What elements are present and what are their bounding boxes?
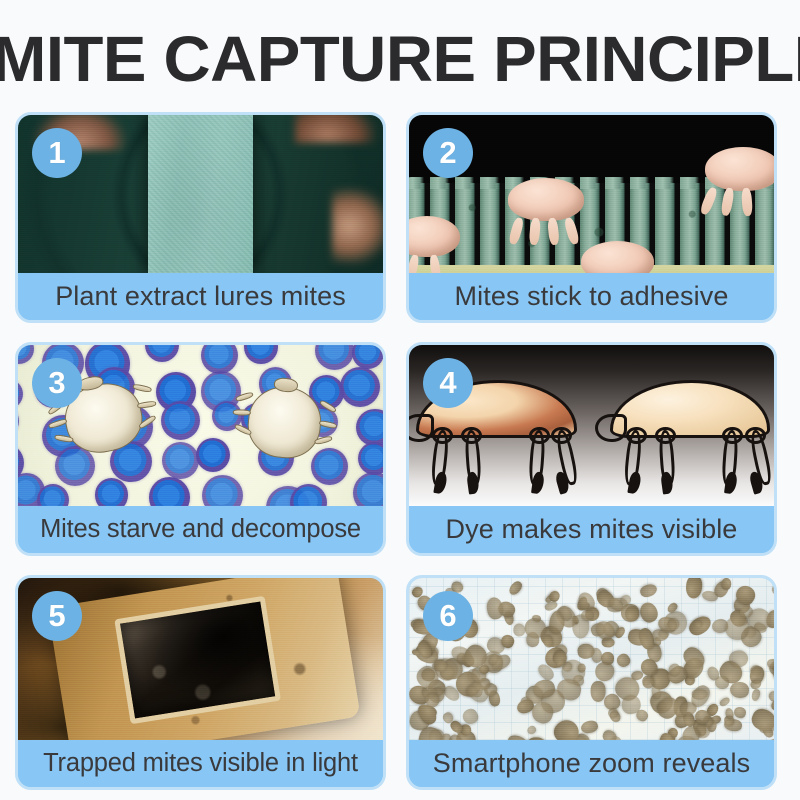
stained-cell xyxy=(161,401,200,440)
mite-speck xyxy=(715,676,729,689)
stained-cell xyxy=(202,475,243,506)
finger-shape xyxy=(332,188,383,264)
mite-pad-shape xyxy=(148,115,254,273)
page-title: MITE CAPTURE PRINCIPLE xyxy=(0,22,800,96)
mite-speck xyxy=(526,724,538,735)
step-badge-1: 1 xyxy=(32,128,82,178)
mite-speck xyxy=(638,583,658,600)
step-card-3[interactable]: 3 Mites starve and decompose xyxy=(15,342,386,556)
step-badge-6: 6 xyxy=(423,591,473,641)
mite-speck xyxy=(602,729,619,740)
stained-cell xyxy=(315,345,354,370)
step-card-6[interactable]: 6 Smartphone zoom reveals xyxy=(406,575,777,790)
undyed-mite-shape xyxy=(610,380,771,480)
steps-grid: 1 Plant extract lures mites xyxy=(15,112,777,772)
stained-cell xyxy=(196,438,230,472)
stained-cell xyxy=(145,345,179,362)
stained-cell xyxy=(311,448,348,485)
mite-speck xyxy=(507,579,524,597)
step-card-4[interactable]: 4 Dye makes mites visible xyxy=(406,342,777,556)
step-badge-3: 3 xyxy=(32,358,82,408)
finger-shape xyxy=(295,115,375,143)
mite-speck xyxy=(729,681,749,699)
stained-cell xyxy=(201,345,238,374)
mite-shape xyxy=(705,147,774,191)
mite-speck xyxy=(701,590,718,602)
stained-cell xyxy=(55,446,95,486)
stained-cell xyxy=(358,442,383,475)
mite-speck xyxy=(718,695,731,707)
step-caption-1: Plant extract lures mites xyxy=(18,273,383,320)
mite-speck xyxy=(512,624,526,638)
inspection-window xyxy=(115,596,282,724)
step-card-1[interactable]: 1 Plant extract lures mites xyxy=(15,112,386,323)
mite-speck xyxy=(766,658,774,669)
trap-patch-shape xyxy=(48,578,361,740)
mite-speck xyxy=(733,706,747,719)
mite-speck xyxy=(749,706,774,734)
stained-cell xyxy=(95,478,129,506)
stained-cell xyxy=(162,442,199,479)
stained-cell xyxy=(356,409,383,446)
mite-speck xyxy=(485,596,505,620)
mite-shape xyxy=(581,241,654,273)
step-caption-5: Trapped mites visible in light xyxy=(18,740,383,787)
step-caption-4: Dye makes mites visible xyxy=(409,506,774,553)
stained-cell xyxy=(18,403,19,439)
stained-cell xyxy=(353,472,383,506)
step-caption-2: Mites stick to adhesive xyxy=(409,273,774,320)
mite-speck xyxy=(772,700,774,710)
step-caption-3: Mites starve and decompose xyxy=(18,506,383,553)
mite-speck xyxy=(721,578,732,591)
step-card-5[interactable]: 5 Trapped mites visible in light xyxy=(15,575,386,790)
step-badge-2: 2 xyxy=(423,128,473,178)
stained-cell xyxy=(352,345,383,369)
stained-cell xyxy=(290,484,327,506)
stained-cell xyxy=(18,345,34,364)
mite-speck xyxy=(685,578,703,599)
infographic-page: MITE CAPTURE PRINCIPLE 1 Plant extract l… xyxy=(0,0,800,800)
step-card-2[interactable]: 2 Mites stick to adhesive xyxy=(406,112,777,323)
stained-cell xyxy=(18,379,23,409)
mite-speck xyxy=(770,581,774,598)
mite-speck xyxy=(505,733,530,740)
mite-speck xyxy=(615,652,633,670)
mite-speck xyxy=(624,607,639,623)
stained-cell xyxy=(37,484,69,506)
mite-shape xyxy=(508,178,585,221)
step-badge-5: 5 xyxy=(32,591,82,641)
step-caption-6: Smartphone zoom reveals xyxy=(409,740,774,787)
stained-cell xyxy=(340,367,380,407)
step-badge-4: 4 xyxy=(423,358,473,408)
mite-speck xyxy=(637,600,660,625)
mite-speck xyxy=(751,688,762,701)
stained-cell xyxy=(244,345,277,364)
stained-cell xyxy=(149,477,190,506)
